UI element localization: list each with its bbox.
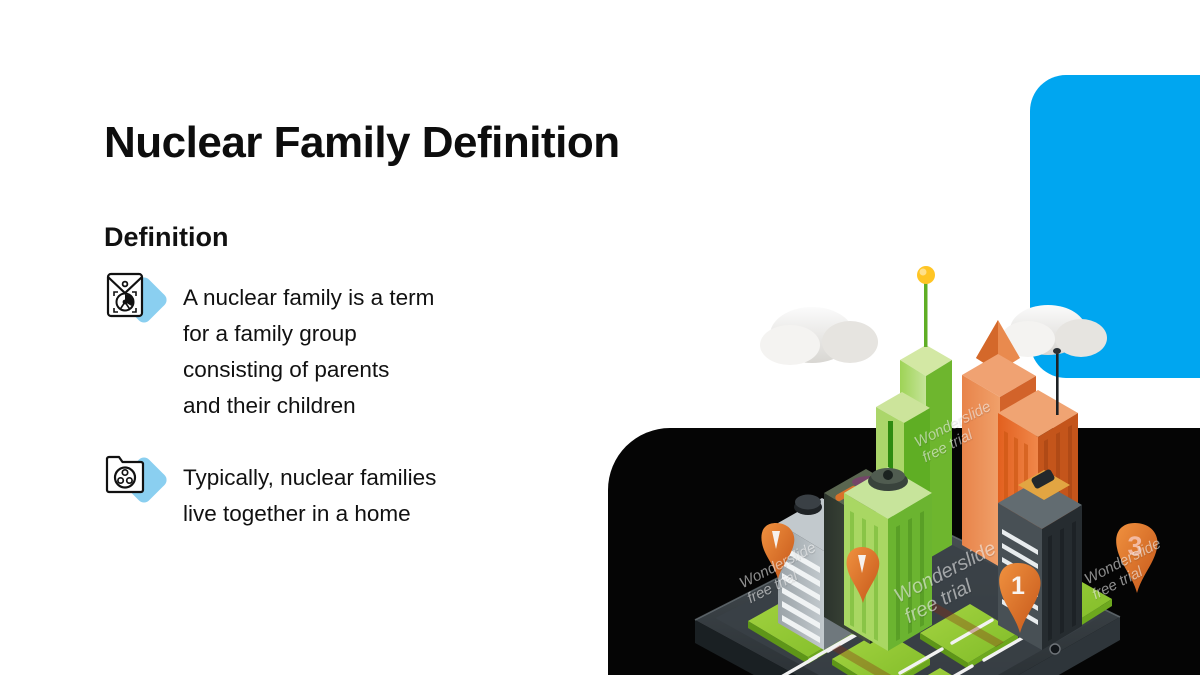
- slide-canvas: Nuclear Family Definition Definition: [0, 0, 1200, 675]
- page-title: Nuclear Family Definition: [104, 119, 620, 167]
- envelope-radiation-icon: [104, 272, 146, 318]
- folder-people-icon: [104, 452, 146, 498]
- bullet-text: A nuclear family is a term for a family …: [183, 272, 434, 424]
- bullet-icon-container: [100, 452, 174, 512]
- pin-label: 1: [1011, 572, 1025, 600]
- section-heading: Definition: [104, 222, 228, 253]
- bullet-icon-container: [100, 272, 174, 332]
- bullet-text: Typically, nuclear families live togethe…: [183, 452, 436, 532]
- bullet-item: Typically, nuclear families live togethe…: [100, 452, 436, 532]
- bullet-item: A nuclear family is a term for a family …: [100, 272, 434, 424]
- map-pin-3: 3: [1116, 523, 1157, 593]
- pin-label: 3: [1127, 531, 1142, 561]
- isometric-city-illustration: 1 3: [600, 245, 1200, 675]
- cloud-left: [760, 307, 878, 365]
